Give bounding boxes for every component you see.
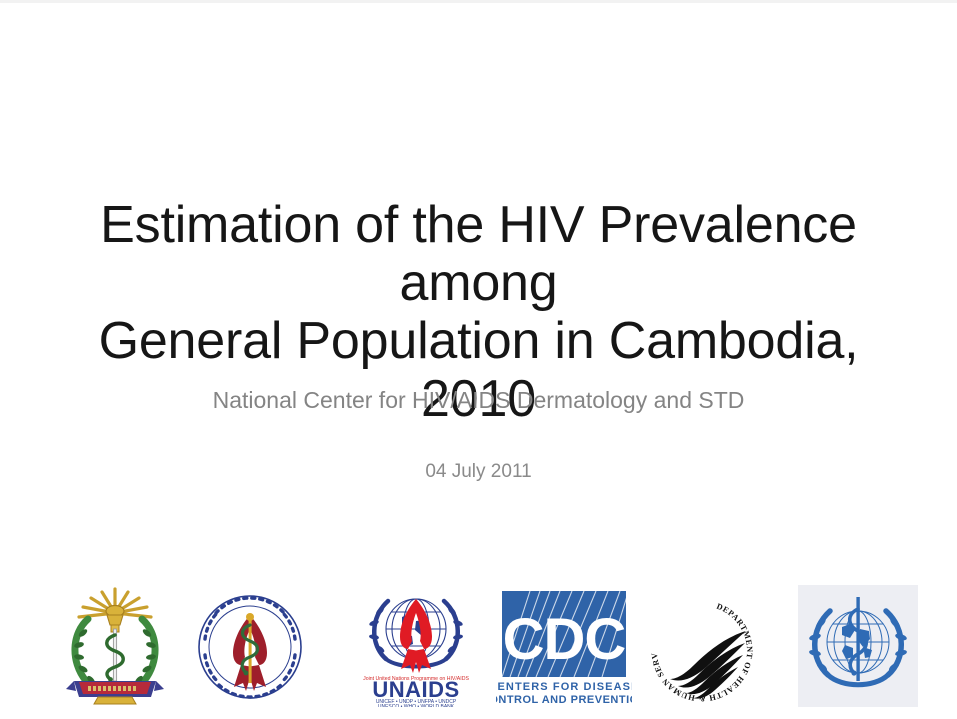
cdc-wordmark: CDC: [503, 607, 626, 672]
who-emblem-icon: [798, 585, 918, 707]
subtitle-block: National Center for HIV/AIDS Dermatology…: [0, 385, 957, 415]
presentation-date: 04 July 2011: [0, 459, 957, 485]
slide-top-edge: [0, 0, 957, 3]
title-line-1: Estimation of the HIV Prevalence among: [100, 196, 857, 312]
moh-cambodia-emblem-icon: [52, 585, 178, 707]
unaids-agencies-line-2: UNESCO • WHO • WORLD BANK: [378, 704, 455, 707]
nchads-ribbon-emblem-icon: [188, 587, 312, 707]
hhs-seal-icon: DEPARTMENT OF HEALTH & HUMAN SERVICES • …: [646, 595, 758, 707]
logo-strip: Joint United Nations Programme on HIV/AI…: [0, 580, 957, 719]
unaids-emblem-icon: Joint United Nations Programme on HIV/AI…: [358, 587, 474, 707]
cdc-logo-icon: CDC CENTERS FOR DISEASE CONTROL AND PREV…: [496, 589, 632, 707]
cdc-caption-line-2: CONTROL AND PREVENTION: [496, 694, 632, 706]
organization-subtitle: National Center for HIV/AIDS Dermatology…: [0, 385, 957, 415]
cdc-caption-line-1: CENTERS FOR DISEASE: [496, 681, 632, 693]
title-slide: Estimation of the HIV Prevalence amongGe…: [0, 0, 957, 719]
date-block: 04 July 2011: [0, 459, 957, 485]
